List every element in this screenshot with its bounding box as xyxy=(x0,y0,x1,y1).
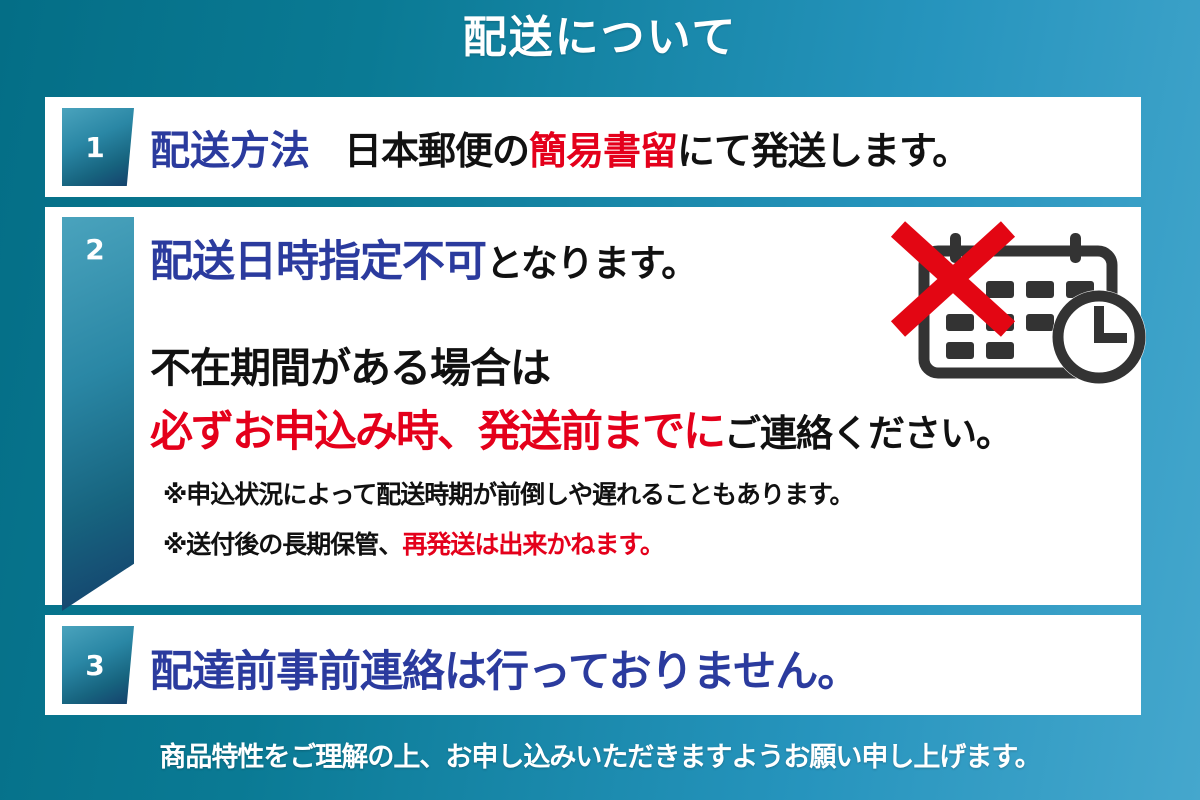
info-card-1: 1 配送方法 日本郵便の簡易書留にて発送します。 xyxy=(45,97,1141,197)
note-2-text-red: 再発送は出来かねます。 xyxy=(402,530,664,559)
shipping-method-text-post: にて発送します。 xyxy=(677,129,969,173)
footer-note: 商品特性をご理解の上、お申し込みいただきますようお願い申し上げます。 xyxy=(0,735,1200,774)
step-badge-3: 3 xyxy=(62,626,134,704)
page-title: 配送について xyxy=(0,16,1200,60)
note-item: ※送付後の長期保管、再発送は出来かねます。 xyxy=(163,525,664,561)
no-advance-contact-heading: 配達前事前連絡は行っておりません。 xyxy=(150,637,859,699)
step-badge-2-number: 2 xyxy=(85,233,104,266)
contact-request-line: 必ずお申込み時、発送前までにご連絡ください。 xyxy=(150,397,1012,459)
info-card-3: 3 配達前事前連絡は行っておりません。 xyxy=(45,615,1141,715)
note-2-text: ※送付後の長期保管、 xyxy=(163,530,402,559)
info-card-1-content: 配送方法 日本郵便の簡易書留にて発送します。 xyxy=(150,117,1127,177)
step-badge-1-number: 1 xyxy=(85,131,104,164)
prohibited-cross-icon-svg xyxy=(890,219,1180,399)
step-badge-2: 2 xyxy=(62,217,134,611)
note-1-text: ※申込状況によって配送時期が前倒しや遅れることもあります。 xyxy=(163,480,854,509)
shipping-method-text-pre: 日本郵便の xyxy=(344,129,529,173)
shipping-method-text: 日本郵便の簡易書留にて発送します。 xyxy=(344,120,969,175)
no-date-designation-tail: となります。 xyxy=(486,242,697,285)
step-badge-3-number: 3 xyxy=(85,649,104,682)
shipping-info-banner: 配送について 1 配送方法 日本郵便の簡易書留にて発送します。 2 配送日時指定… xyxy=(0,0,1200,800)
note-item: ※申込状況によって配送時期が前倒しや遅れることもあります。 xyxy=(163,475,854,511)
calendar-clock-prohibited-icon xyxy=(890,219,1180,399)
shipping-method-heading: 配送方法 xyxy=(150,118,310,176)
contact-request-strong: 必ずお申込み時、発送前までに xyxy=(150,407,724,457)
absence-period-line: 不在期間がある場合は xyxy=(150,334,550,394)
step-badge-1: 1 xyxy=(62,108,134,186)
contact-request-tail: ご連絡ください。 xyxy=(724,412,1012,455)
info-card-2: 2 配送日時指定不可となります。 不在期間がある場合は 必ずお申込み時、発送前ま… xyxy=(45,207,1141,605)
shipping-method-text-highlight: 簡易書留 xyxy=(529,129,677,173)
no-date-designation-strong: 配送日時指定不可 xyxy=(150,237,486,287)
no-date-designation-line: 配送日時指定不可となります。 xyxy=(150,227,697,289)
